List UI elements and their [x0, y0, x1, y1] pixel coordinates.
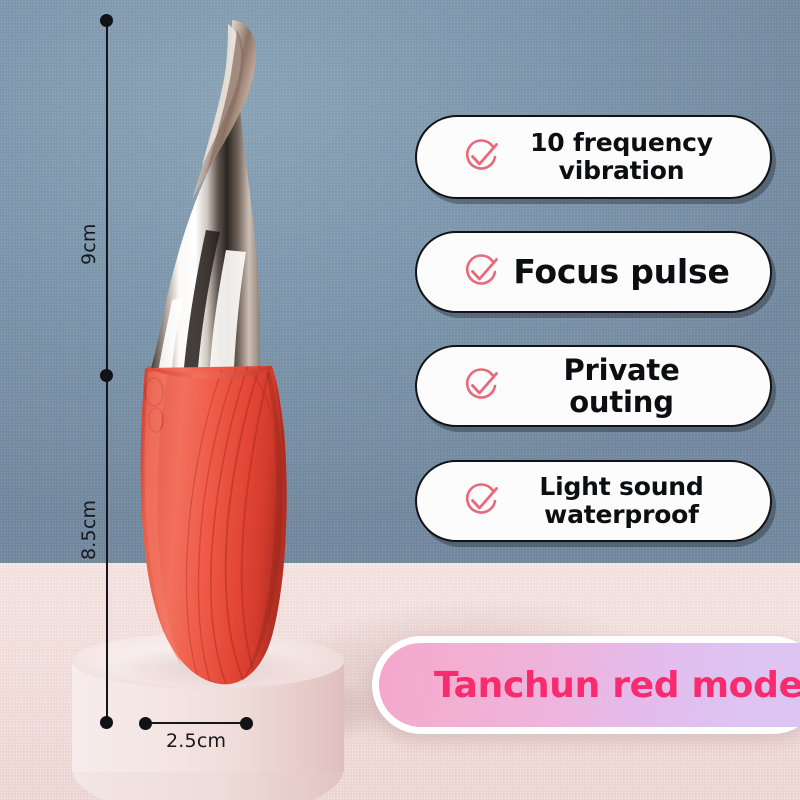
infographic-stage: 9cm 8.5cm 2.5cm 10 frequency vibration F… [0, 0, 800, 800]
product-name-banner[interactable]: Tanchun red model [372, 636, 800, 734]
feature-pill-label: Light sound waterproof [507, 473, 770, 529]
feature-pill-10-frequency-vibration[interactable]: 10 frequency vibration [415, 115, 772, 199]
dimension-label-2-5cm: 2.5cm [166, 730, 226, 752]
dimension-label-8-5cm: 8.5cm [78, 500, 100, 560]
check-circle-icon [455, 475, 507, 527]
check-circle-icon [455, 131, 507, 183]
feature-pill-focus-pulse[interactable]: Focus pulse [415, 231, 772, 313]
dim-dot-middle [100, 369, 113, 382]
dim-dot-bottom [100, 716, 113, 729]
dim-dot-width-right [240, 717, 253, 730]
banner-title: Tanchun red model [434, 636, 800, 734]
feature-pill-label: Focus pulse [507, 254, 770, 291]
feature-pill-label: 10 frequency vibration [507, 129, 770, 185]
check-circle-icon [455, 360, 507, 412]
feature-pill-light-sound-waterproof[interactable]: Light sound waterproof [415, 460, 772, 542]
product-illustration [110, 0, 330, 700]
feature-pill-label: Private outing [507, 354, 770, 419]
dim-dot-top [100, 14, 113, 27]
dim-dot-width-left [139, 717, 152, 730]
check-circle-icon [455, 246, 507, 298]
feature-pill-private-outing[interactable]: Private outing [415, 345, 772, 427]
horizontal-dimension-line [145, 722, 246, 724]
dimension-label-9cm: 9cm [78, 223, 100, 265]
